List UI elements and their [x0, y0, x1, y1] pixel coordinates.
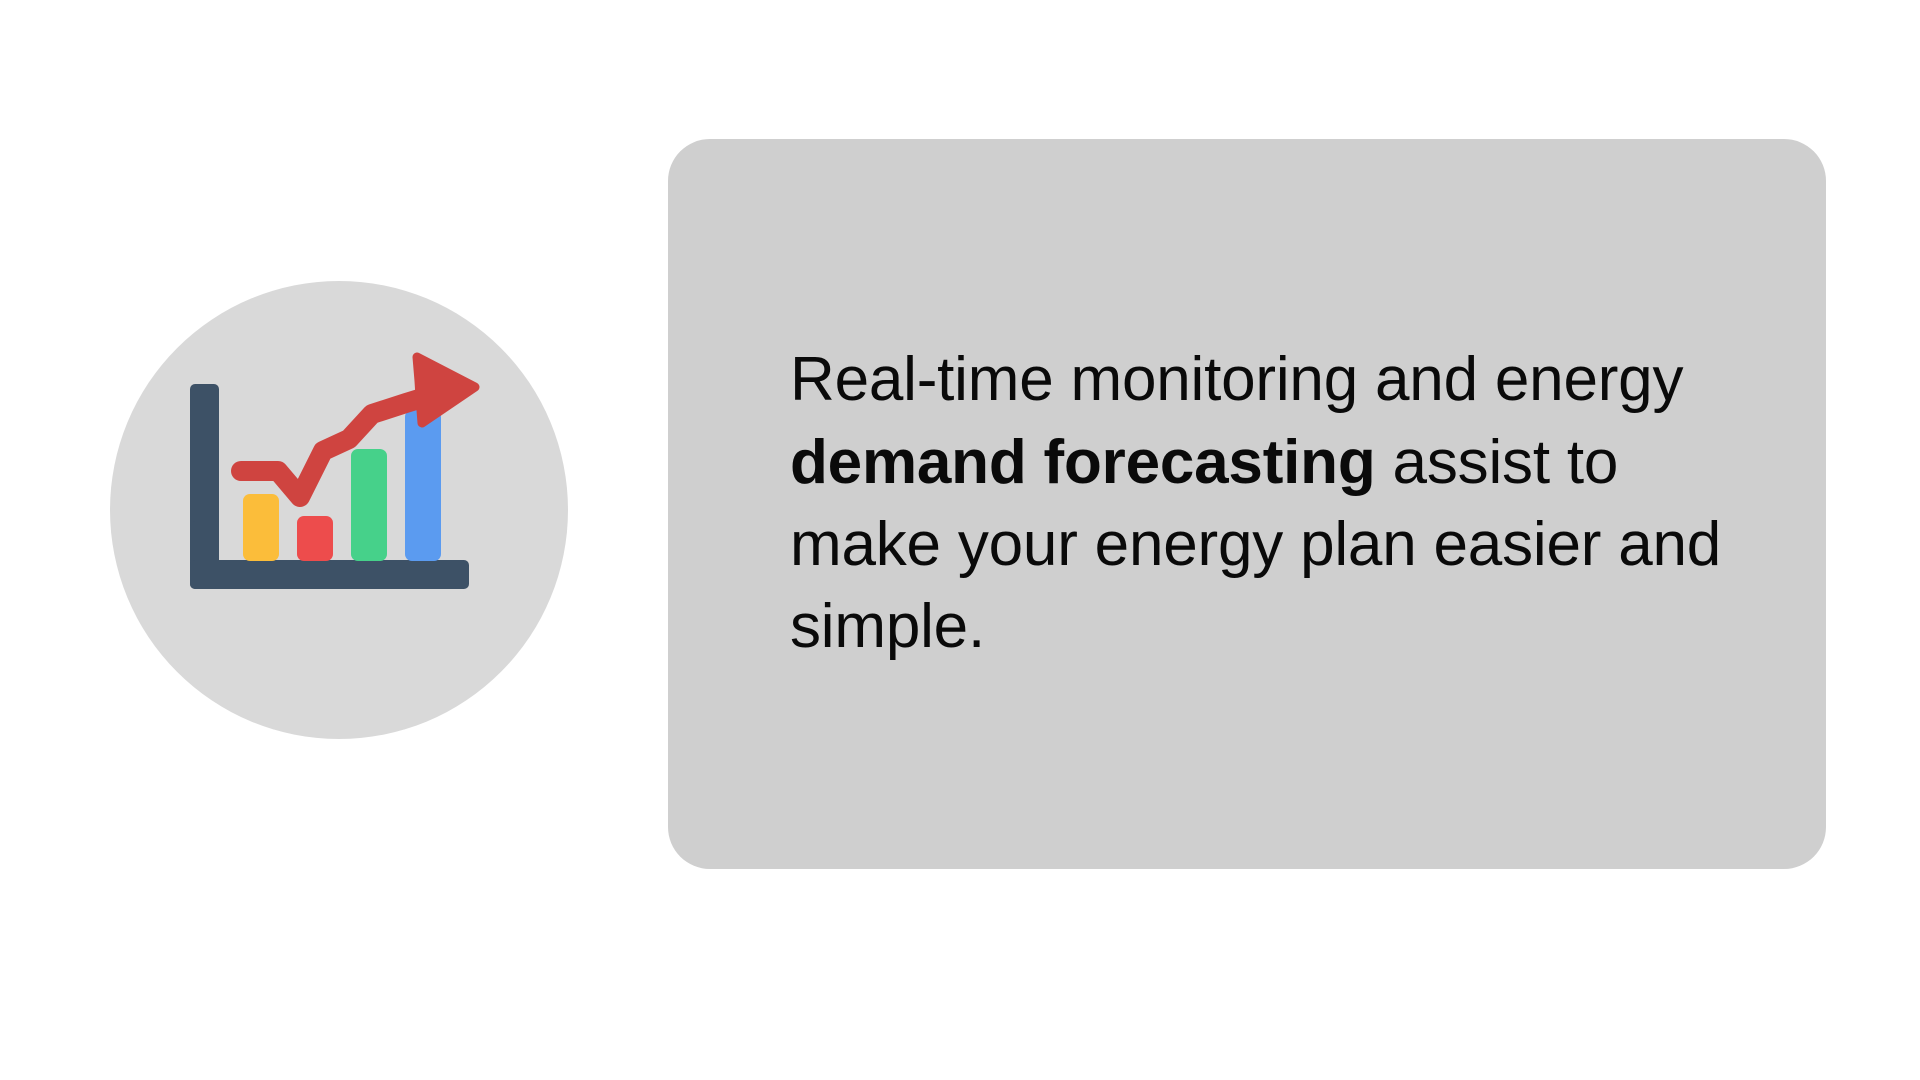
bar-chart-growth-icon	[110, 281, 568, 739]
chart-y-axis	[190, 384, 219, 541]
icon-badge	[110, 281, 568, 739]
feature-description: Real-time monitoring and energy demand f…	[790, 339, 1730, 669]
feature-text-card: Real-time monitoring and energy demand f…	[668, 139, 1826, 869]
description-emphasis: demand forecasting	[790, 428, 1376, 497]
chart-bar-2	[297, 516, 333, 561]
chart-bar-1	[243, 494, 279, 561]
chart-trend-arrowhead	[417, 357, 475, 423]
chart-x-axis	[190, 560, 469, 589]
chart-bar-3	[351, 449, 387, 561]
chart-bar-4	[405, 410, 441, 561]
feature-row: Real-time monitoring and energy demand f…	[0, 0, 1920, 1080]
description-lead: Real-time monitoring and energy	[790, 345, 1683, 414]
